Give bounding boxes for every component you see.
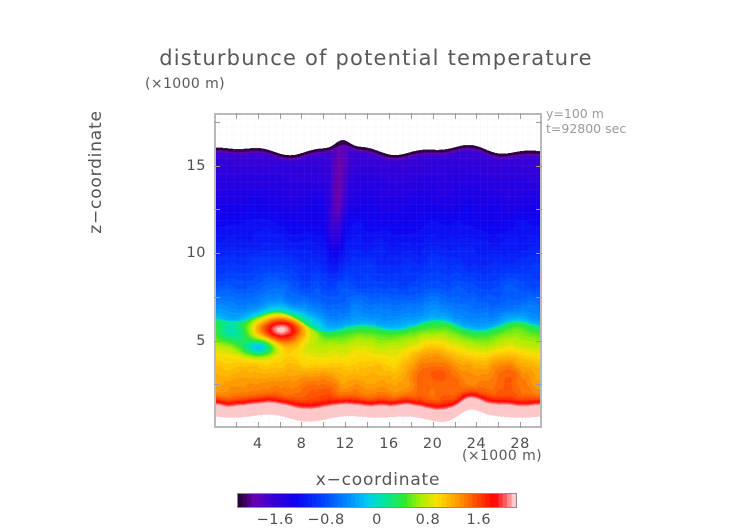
y-axis-tick (214, 209, 220, 210)
x-axis-tick (411, 422, 412, 428)
y-axis-tick (214, 166, 220, 167)
contour-field (216, 115, 540, 426)
y-axis-units-label: (×1000 m) (145, 76, 225, 92)
colorbar-tick-label: 1.6 (467, 512, 492, 528)
x-axis-tick-top (520, 113, 521, 119)
y-axis-tick (214, 297, 220, 298)
x-axis-tick-top (455, 113, 456, 119)
x-axis-units-label: (×1000 m) (462, 448, 542, 464)
plot-area (214, 113, 542, 428)
y-axis-tick-label: 10 (168, 245, 206, 261)
x-axis-tick (301, 422, 302, 428)
y-axis-tick (214, 384, 220, 385)
x-axis-tick (236, 422, 237, 428)
x-axis-tick-label: 8 (297, 436, 307, 452)
colorbar-frame (237, 493, 517, 508)
x-axis-tick (280, 422, 281, 428)
annotation-y: y=100 m (546, 106, 626, 121)
y-axis-tick-label: 5 (168, 333, 206, 349)
x-axis-tick-top (258, 113, 259, 119)
slice-annotation: y=100 m t=92800 sec (546, 106, 626, 136)
y-axis-tick (214, 341, 220, 342)
y-axis-title: z−coordinate (86, 62, 106, 282)
x-axis-tick-top (367, 113, 368, 119)
colorbar-tick-label: −0.8 (307, 512, 344, 528)
y-axis-tick-right (536, 166, 542, 167)
y-axis-tick-label: 15 (168, 158, 206, 174)
colorbar-tick-label: 0 (372, 512, 382, 528)
x-axis-tick-label: 20 (423, 436, 442, 452)
colorbar-gradient (238, 494, 516, 507)
x-axis-tick-top (411, 113, 412, 119)
x-axis-tick (455, 422, 456, 428)
y-axis-tick-right (536, 341, 542, 342)
colorbar-tick-label: 0.8 (416, 512, 441, 528)
x-axis-tick-top (323, 113, 324, 119)
x-axis-tick-top (476, 113, 477, 119)
x-axis-tick (520, 422, 521, 428)
x-axis-tick-top (301, 113, 302, 119)
x-axis-tick-label: 12 (335, 436, 354, 452)
x-axis-tick-label: 4 (253, 436, 263, 452)
annotation-t: t=92800 sec (546, 121, 626, 136)
x-axis-tick (258, 422, 259, 428)
x-axis-tick-top (280, 113, 281, 119)
y-axis-tick (214, 253, 220, 254)
y-axis-tick-right (536, 253, 542, 254)
x-axis-tick-top (345, 113, 346, 119)
x-axis-tick-top (389, 113, 390, 119)
y-axis-tick-right (536, 297, 542, 298)
y-axis-tick-right (536, 122, 542, 123)
x-axis-tick (476, 422, 477, 428)
x-axis-title: x−coordinate (214, 470, 542, 490)
y-axis-tick-right (536, 384, 542, 385)
y-axis-tick-right (536, 209, 542, 210)
x-axis-tick (345, 422, 346, 428)
x-axis-tick-label: 16 (379, 436, 398, 452)
x-axis-tick (498, 422, 499, 428)
x-axis-tick-top (236, 113, 237, 119)
x-axis-tick (323, 422, 324, 428)
x-axis-tick (389, 422, 390, 428)
colorbar-tick-label: −1.6 (257, 512, 294, 528)
x-axis-tick (367, 422, 368, 428)
colorbar (237, 493, 517, 508)
x-axis-tick-top (498, 113, 499, 119)
page-title: disturbunce of potential temperature (0, 46, 752, 70)
y-axis-tick (214, 122, 220, 123)
x-axis-tick (433, 422, 434, 428)
x-axis-tick-top (433, 113, 434, 119)
plot-frame (214, 113, 542, 428)
